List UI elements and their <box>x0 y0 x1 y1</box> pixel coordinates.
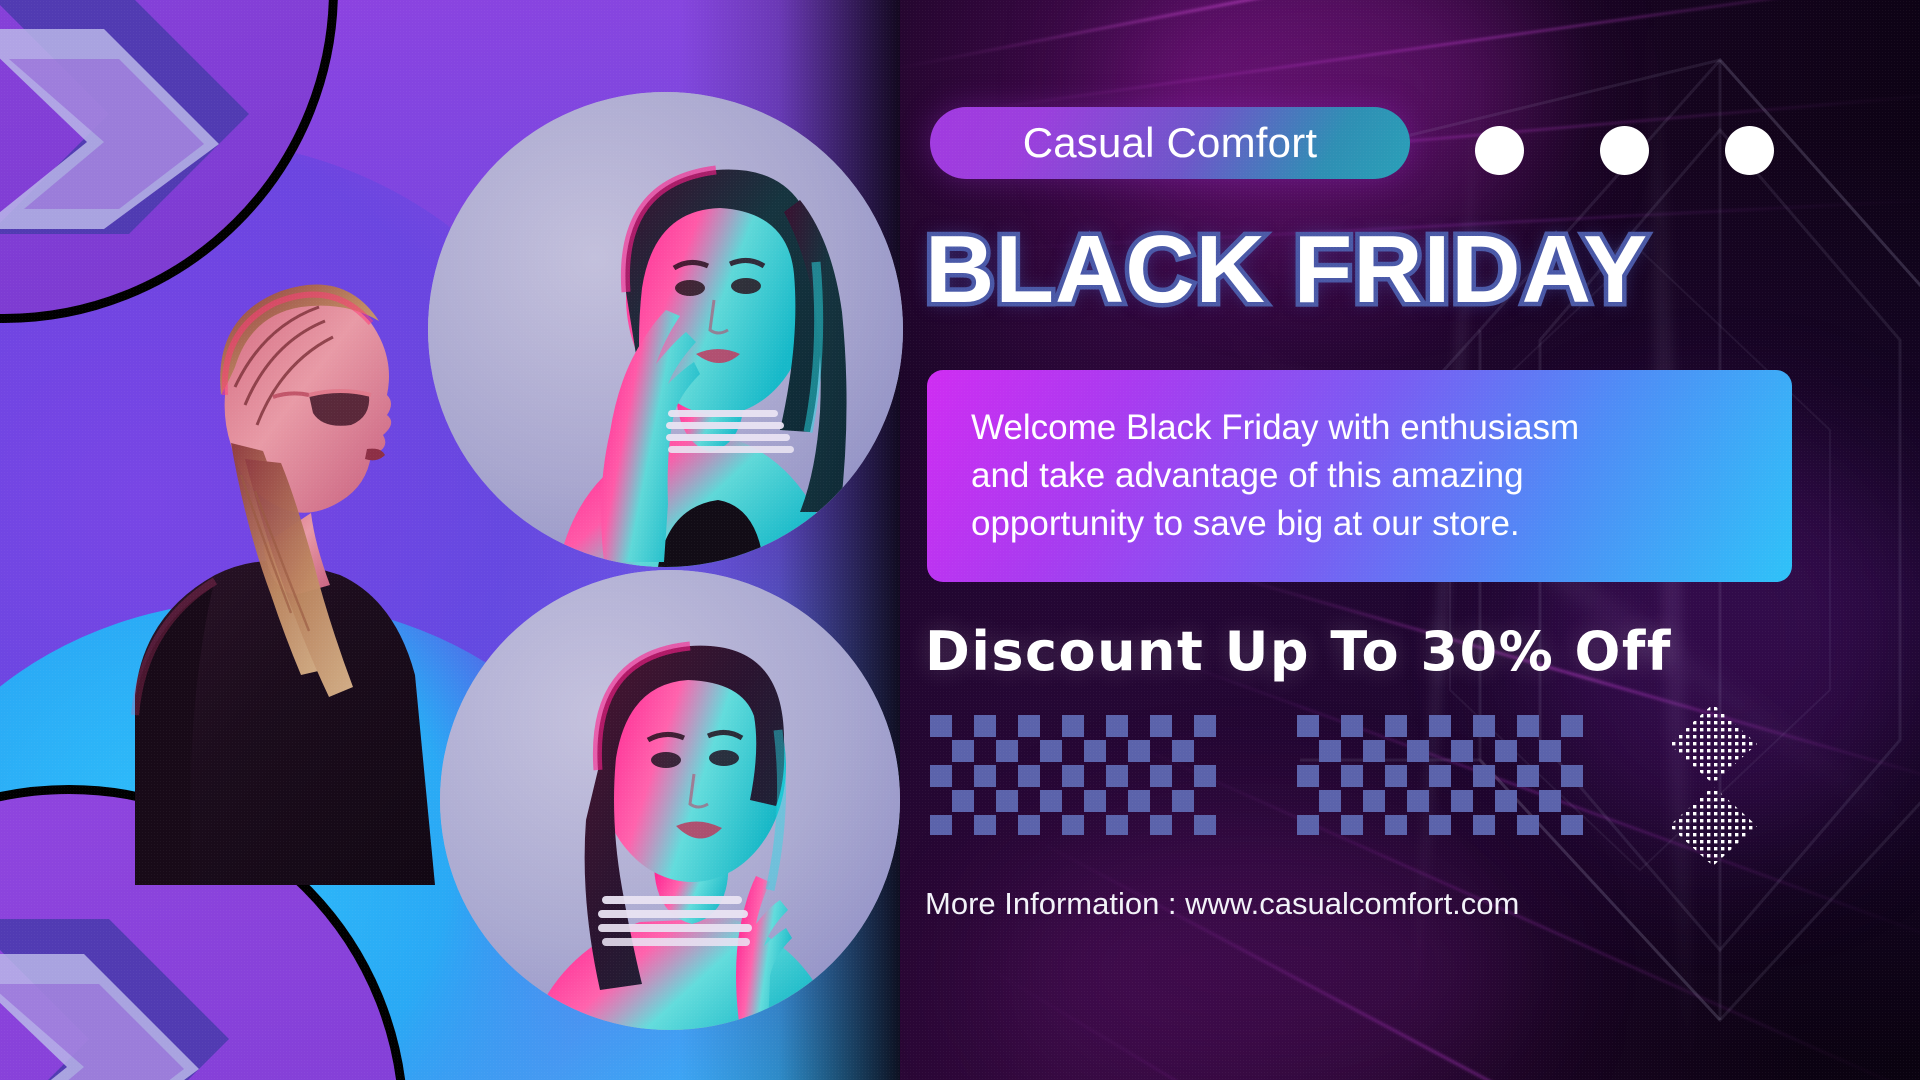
more-information-text[interactable]: More Information : www.casualcomfort.com <box>925 886 1519 922</box>
black-friday-promo-banner: Casual Comfort BLACK FRIDAY Welcome Blac… <box>0 0 1920 1080</box>
model-portrait-circle-top <box>428 92 903 567</box>
description-line-3: opportunity to save big at our store. <box>971 504 1520 543</box>
chevron-arrow-icon <box>0 0 299 244</box>
description-line-2: and take advantage of this amazing <box>971 456 1524 495</box>
checkerboard-block <box>1297 715 1592 835</box>
brand-badge[interactable]: Casual Comfort <box>930 107 1410 179</box>
checkerboard-pattern-group <box>930 715 1592 835</box>
chevron-arrow-icon <box>0 889 279 1080</box>
decorative-dots-group <box>1475 126 1774 175</box>
decorative-dot-icon <box>1600 126 1649 175</box>
page-title: BLACK FRIDAY <box>925 222 1920 318</box>
promo-content-column: Casual Comfort BLACK FRIDAY Welcome Blac… <box>930 0 1920 1080</box>
model-photo-hoodie <box>95 245 465 885</box>
description-card: Welcome Black Friday with enthusiasm and… <box>927 370 1792 582</box>
description-line-1: Welcome Black Friday with enthusiasm <box>971 408 1579 447</box>
brand-badge-label: Casual Comfort <box>1023 122 1318 164</box>
dotted-diamond-icon <box>1669 786 1757 866</box>
checkerboard-block <box>930 715 1225 835</box>
decorative-dot-icon <box>1475 126 1524 175</box>
model-portrait-circle-bottom <box>440 570 900 1030</box>
dotted-diamond-icon <box>1669 704 1757 784</box>
decorative-dot-icon <box>1725 126 1774 175</box>
dotted-diamond-group <box>1665 700 1755 855</box>
discount-headline: Discount Up To 30% Off <box>925 620 1672 683</box>
